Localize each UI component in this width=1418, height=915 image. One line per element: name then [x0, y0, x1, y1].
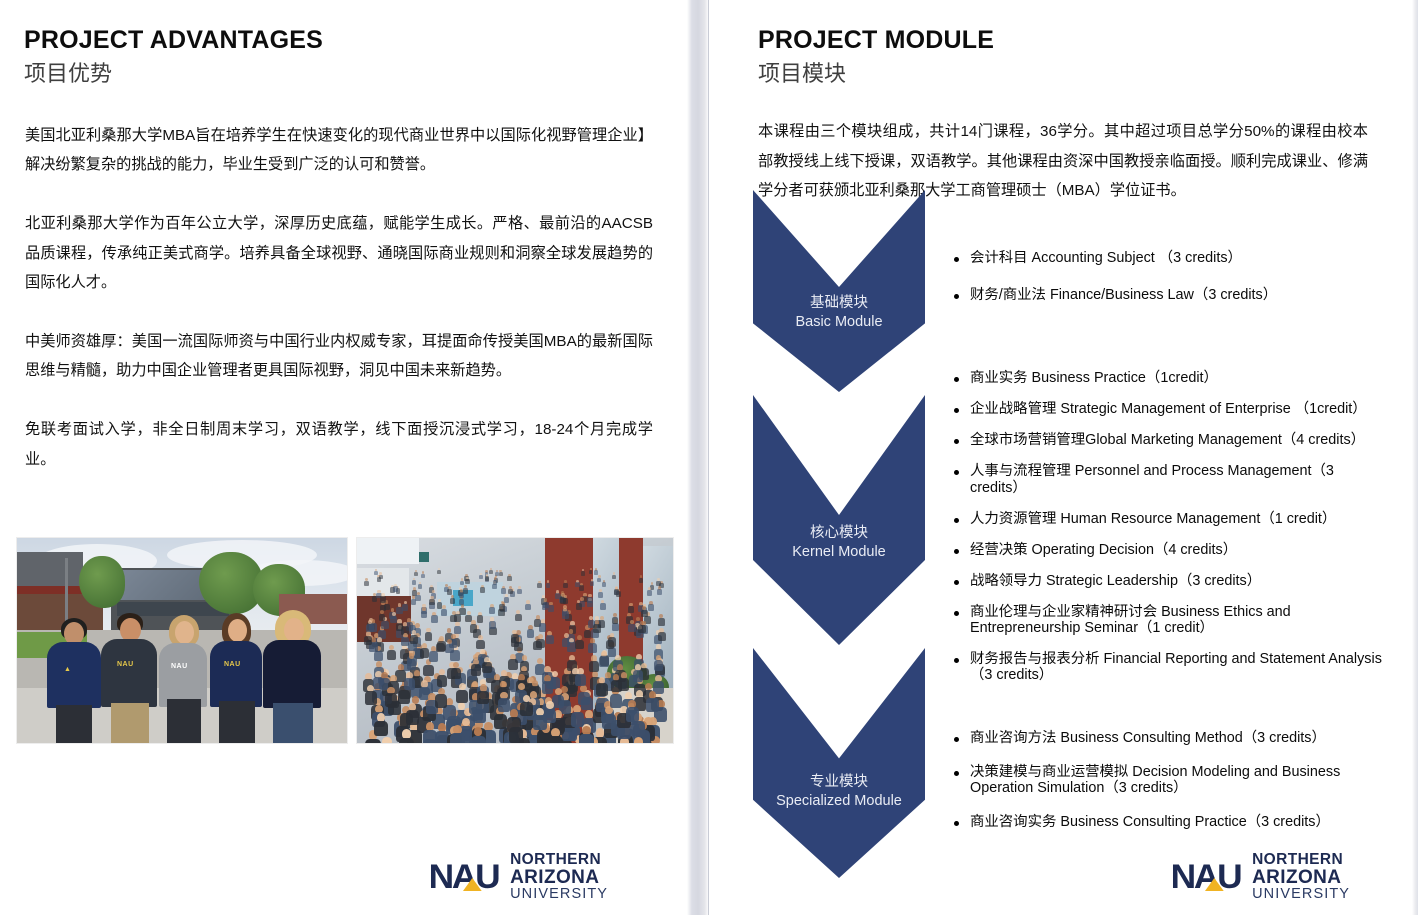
- left-column: PROJECT ADVANTAGES 项目优势 美国北亚利桑那大学MBA旨在培养…: [0, 0, 687, 915]
- crowd-person-body: [420, 648, 429, 658]
- crowd-person-body: [563, 583, 568, 588]
- module-specialized-label-cn: 专业模块: [753, 773, 925, 792]
- left-body-text: 美国北亚利桑那大学MBA旨在培养学生在快速变化的现代商业世界中以国际化视野管理企…: [25, 121, 653, 474]
- crowd-person-body: [584, 630, 592, 639]
- crowd-person-body: [402, 604, 408, 611]
- crowd-person-body: [507, 576, 511, 581]
- crowd-person-body: [451, 668, 461, 680]
- advantage-paragraph-1: 美国北亚利桑那大学MBA旨在培养学生在快速变化的现代商业世界中以国际化视野管理企…: [25, 121, 653, 179]
- crowd-person-body: [406, 710, 419, 725]
- nau-wordmark: NAU: [429, 860, 499, 894]
- module-intro: 本课程由三个模块组成，共计14门课程，36学分。其中超过项目总学分50%的课程由…: [758, 117, 1368, 206]
- crowd-person-body: [418, 584, 423, 589]
- crowd-person-body: [614, 589, 619, 595]
- crowd-person-body: [494, 714, 507, 729]
- crowd-person-body: [390, 616, 397, 624]
- module-basic-label-en: Basic Module: [753, 313, 925, 332]
- crowd-person-body: [450, 598, 456, 604]
- module-chevron-basic-label: 基础模块 Basic Module: [753, 294, 925, 331]
- crowd-person-body: [499, 604, 505, 611]
- crowd-person-body: [445, 644, 454, 654]
- crowd-person-body: [485, 576, 489, 581]
- crowd-person-body: [364, 581, 368, 586]
- crowd-person-body: [539, 623, 546, 631]
- crowd-person-body: [366, 624, 373, 632]
- course-item: 会计科目 Accounting Subject （3 credits）: [952, 250, 1384, 266]
- crowd-person-body: [379, 614, 386, 621]
- crowd-person-body: [385, 693, 397, 706]
- crowd-person-body: [423, 730, 438, 743]
- course-list-basic: 会计科目 Accounting Subject （3 credits）财务/商业…: [952, 250, 1384, 324]
- crowd-person-body: [598, 592, 603, 598]
- crowd-person-body: [589, 661, 599, 672]
- crowd-person-body: [633, 670, 643, 682]
- crowd-person-body: [599, 656, 609, 667]
- crowd-person-body: [590, 581, 595, 586]
- nau-line-university: UNIVERSITY: [1252, 887, 1350, 902]
- crowd-person-body: [364, 636, 372, 645]
- crowd-person-body: [421, 574, 425, 578]
- crowd-person-body: [470, 624, 477, 632]
- crowd-person-body: [654, 660, 664, 671]
- crowd-person-body: [489, 607, 495, 614]
- crowd-person-body: [646, 698, 658, 712]
- crowd-person-body: [628, 624, 635, 632]
- crowd-person: [634, 737, 643, 743]
- crowd-person-body: [657, 589, 662, 595]
- crowd-person-body: [447, 589, 452, 595]
- crowd-person-body: [437, 675, 448, 687]
- crowd-person-body: [508, 589, 513, 595]
- crowd-person-body: [476, 640, 484, 649]
- course-item: 经营决策 Operating Decision（4 credits）: [952, 542, 1384, 558]
- course-item: 全球市场营销管理Global Marketing Management（4 cr…: [952, 432, 1384, 448]
- crowd-person-body: [578, 692, 590, 705]
- crowd-person-body: [612, 575, 616, 580]
- crowd-person-body: [415, 595, 420, 601]
- crowd-person-body: [435, 694, 447, 708]
- left-title-block: PROJECT ADVANTAGES 项目优势: [24, 27, 323, 89]
- nau-university-name: NORTHERN ARIZONA UNIVERSITY: [1248, 852, 1350, 902]
- crowd-person-body: [575, 674, 586, 686]
- crowd-person-body: [515, 614, 522, 621]
- crowd-person-body: [423, 665, 433, 676]
- crowd-person-body: [441, 609, 447, 616]
- crowd-person-body: [460, 581, 464, 586]
- course-item: 商业咨询方法 Business Consulting Method（3 cred…: [952, 730, 1384, 746]
- crowd-person-body: [477, 615, 484, 623]
- crowd-person-body: [399, 738, 414, 743]
- crowd-person-body: [610, 694, 622, 708]
- crowd-person-body: [511, 634, 519, 643]
- nau-logo-left: NAU NORTHERN ARIZONA UNIVERSITY: [430, 852, 608, 902]
- course-item: 商业咨询实务 Business Consulting Practice（3 cr…: [952, 814, 1384, 830]
- crowd-person-body: [563, 598, 569, 604]
- crowd-person-body: [658, 632, 666, 641]
- crowd-person-body: [542, 681, 553, 694]
- crowd-person-body: [517, 589, 522, 595]
- crowd-person-body: [379, 575, 383, 580]
- crowd-person-body: [533, 715, 547, 730]
- crowd-person-body: [412, 580, 416, 585]
- crowd-person-body: [410, 635, 418, 644]
- crowd-person-body: [600, 603, 606, 610]
- crowd-person-body: [454, 614, 461, 622]
- crowd-person-body: [611, 680, 622, 692]
- crowd-person-body: [602, 582, 607, 587]
- crowd-person-body: [508, 659, 518, 670]
- crowd-person-body: [576, 603, 582, 610]
- module-specialized-label-en: Specialized Module: [753, 792, 925, 811]
- crowd-person-body: [480, 587, 485, 592]
- crowd-person-body: [489, 621, 496, 629]
- crowd-person-body: [387, 650, 396, 660]
- photo-row: ▲ NAU NAU: [17, 538, 673, 743]
- course-item: 人事与流程管理 Personnel and Process Management…: [952, 463, 1384, 495]
- column-divider: [687, 0, 709, 915]
- crowd-person-body: [492, 584, 497, 589]
- crowd-person-body: [471, 664, 481, 675]
- left-heading-en: PROJECT ADVANTAGES: [24, 27, 323, 54]
- crowd-person-body: [581, 571, 585, 575]
- crowd-person-body: [407, 659, 417, 670]
- course-item: 企业战略管理 Strategic Management of Enterpris…: [952, 401, 1384, 417]
- crowd-person-body: [499, 572, 503, 576]
- course-list-specialized: 商业咨询方法 Business Consulting Method（3 cred…: [952, 730, 1384, 849]
- crowd-person-body: [365, 739, 380, 743]
- crowd-person-body: [437, 641, 446, 651]
- crowd-person-body: [414, 572, 418, 576]
- crowd-person-body: [459, 599, 465, 605]
- crowd-person-body: [380, 596, 386, 602]
- crowd-person-body: [648, 604, 654, 611]
- crowd-person-body: [459, 608, 465, 615]
- crowd-person-body: [471, 736, 486, 744]
- crowd-person-body: [431, 615, 438, 623]
- crowd-person-body: [536, 639, 544, 648]
- module-kernel-label-cn: 核心模块: [753, 524, 925, 543]
- nau-line-university: UNIVERSITY: [510, 887, 608, 902]
- module-chevron-specialized-label: 专业模块 Specialized Module: [753, 773, 925, 810]
- crowd-person-body: [555, 593, 560, 599]
- crowd-person-body: [401, 637, 409, 646]
- crowd-person-body: [647, 590, 652, 596]
- crowd-person-body: [504, 597, 510, 603]
- nau-line-arizona: ARIZONA: [1252, 868, 1350, 887]
- crowd-person-body: [596, 683, 607, 696]
- crowd-person-body: [477, 691, 489, 704]
- right-heading-cn: 项目模块: [758, 59, 994, 89]
- crowd-person-body: [454, 626, 462, 634]
- course-item: 战略领导力 Strategic Leadership（3 credits）: [952, 573, 1384, 589]
- crowd-person-body: [548, 605, 554, 612]
- nau-line-northern: NORTHERN: [510, 852, 608, 868]
- crowd-person-body: [656, 581, 660, 586]
- crowd-person-body: [520, 702, 533, 716]
- advantage-paragraph-4: 免联考面试入学，非全日制周末学习，双语教学，线下面授沉浸式学习，18-24个月完…: [25, 415, 653, 473]
- crowd-person-body: [594, 570, 598, 574]
- crowd-person-body: [498, 698, 510, 712]
- nau-triangle-icon: [1205, 878, 1224, 891]
- module-kernel-label-en: Kernel Module: [753, 543, 925, 562]
- crowd-person-body: [575, 640, 583, 649]
- crowd-person-body: [374, 721, 388, 737]
- crowd-person-body: [639, 578, 643, 583]
- nau-line-arizona: ARIZONA: [510, 868, 608, 887]
- crowd-person-body: [658, 618, 665, 626]
- module-basic-label-cn: 基础模块: [753, 294, 925, 313]
- nau-students-group-photo: ▲ NAU NAU: [17, 538, 347, 743]
- nau-logo-right: NAU NORTHERN ARIZONA UNIVERSITY: [1172, 852, 1350, 902]
- crowd-person-body: [374, 651, 383, 661]
- crowd-person-body: [587, 597, 593, 603]
- crowd-person-body: [562, 611, 569, 618]
- crowd-person-body: [465, 579, 469, 584]
- course-item: 决策建模与商业运营模拟 Decision Modeling and Busine…: [952, 764, 1384, 796]
- crowd-person-body: [631, 721, 645, 737]
- crowd-person-body: [628, 606, 634, 613]
- crowd-person-body: [626, 707, 639, 722]
- crowd-person-body: [456, 690, 468, 703]
- crowd-person-body: [501, 588, 506, 594]
- crowd-person-body: [527, 629, 535, 638]
- crowd-person-body: [404, 678, 415, 690]
- crowd-person-body: [641, 610, 647, 617]
- crowd-person-body: [608, 637, 616, 646]
- crowd-person-body: [525, 604, 531, 611]
- crowd-person-body: [429, 651, 438, 661]
- crowd-person-body: [579, 734, 594, 743]
- nau-university-name: NORTHERN ARIZONA UNIVERSITY: [506, 852, 608, 902]
- crowd-person-body: [493, 580, 497, 585]
- nau-line-northern: NORTHERN: [1252, 852, 1350, 868]
- crowd-person-body: [365, 691, 377, 704]
- crowd-person-body: [546, 635, 554, 644]
- crowd-person-body: [548, 736, 563, 743]
- crowd-person-body: [374, 571, 378, 575]
- crowd-person-body: [507, 717, 521, 732]
- advantage-paragraph-2: 北亚利桑那大学作为百年公立大学，深厚历史底蕴，赋能学生成长。严格、最前沿的AAC…: [25, 209, 653, 297]
- crowd-person-body: [575, 582, 580, 587]
- course-item: 财务/商业法 Finance/Business Law（3 credits）: [952, 287, 1384, 303]
- crowd-person-body: [571, 712, 584, 727]
- left-heading-cn: 项目优势: [24, 59, 323, 89]
- crowd-person-body: [437, 570, 441, 574]
- nau-crowd-photo: [357, 538, 673, 743]
- crowd-person-body: [537, 583, 542, 588]
- crowd-person-body: [552, 695, 564, 709]
- crowd-person-body: [489, 570, 493, 574]
- crowd-person-body: [588, 643, 597, 653]
- crowd-person-body: [429, 599, 435, 605]
- course-item: 商业实务 Business Practice（1credit）: [952, 370, 1384, 386]
- crowd-person-body: [546, 583, 551, 588]
- module-chevron-kernel-label: 核心模块 Kernel Module: [753, 524, 925, 561]
- right-heading-en: PROJECT MODULE: [758, 27, 994, 54]
- course-item: 商业伦理与企业家精神研讨会 Business Ethics and Entrep…: [952, 604, 1384, 636]
- nau-wordmark: NAU: [1171, 860, 1241, 894]
- crowd-person-body: [425, 632, 433, 641]
- course-item: 财务报告与报表分析 Financial Reporting and Statem…: [952, 651, 1384, 683]
- slide-page: PROJECT ADVANTAGES 项目优势 美国北亚利桑那大学MBA旨在培养…: [0, 0, 1418, 915]
- crowd-person: [382, 737, 391, 743]
- module-intro-paragraph: 本课程由三个模块组成，共计14门课程，36学分。其中超过项目总学分50%的课程由…: [758, 117, 1368, 206]
- crowd-person-body: [463, 588, 468, 594]
- right-title-block: PROJECT MODULE 项目模块: [758, 27, 994, 89]
- crowd-person-body: [421, 611, 427, 618]
- crowd-person-body: [593, 624, 600, 632]
- crowd-person-body: [393, 586, 398, 591]
- course-item: 人力资源管理 Human Resource Management（1 credi…: [952, 511, 1384, 527]
- crowd-person-body: [482, 662, 492, 673]
- nau-triangle-icon: [463, 878, 482, 891]
- crowd-person-body: [381, 621, 388, 629]
- crowd-person-body: [602, 714, 615, 729]
- crowd-person-body: [396, 623, 403, 631]
- crowd-person-body: [638, 625, 645, 633]
- course-list-kernel: 商业实务 Business Practice（1credit）企业战略管理 St…: [952, 370, 1384, 699]
- crowd-person-body: [479, 575, 483, 580]
- advantage-paragraph-3: 中美师资雄厚：美国一流国际师资与中国行业内权威专家，耳提面命传授美国MBA的最新…: [25, 327, 653, 385]
- crowd-person-body: [612, 617, 619, 625]
- crowd-person-body: [450, 733, 465, 743]
